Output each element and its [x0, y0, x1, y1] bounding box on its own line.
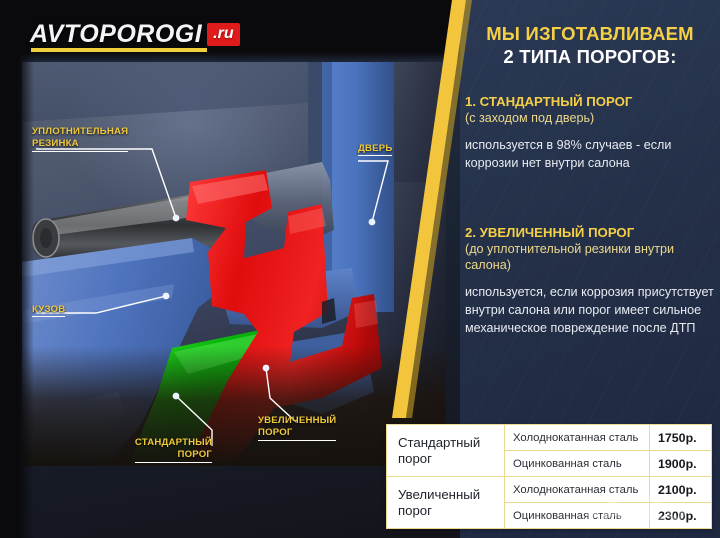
- headline-line2: 2 ТИПА ПОРОГОВ:: [470, 45, 710, 68]
- row-type-label: Стандартный порог: [387, 425, 505, 476]
- callout-extended-sill: УВЕЛИЧЕННЫЙ ПОРОГ: [258, 415, 336, 441]
- table-subrow: Оцинкованная сталь 1900р.: [505, 450, 711, 476]
- callout-extended-line1: УВЕЛИЧЕННЫЙ: [258, 415, 336, 426]
- callout-standard-line1: СТАНДАРТНЫЙ: [135, 437, 212, 448]
- headline-line1: МЫ ИЗГОТАВЛИВАЕМ: [470, 22, 710, 45]
- material-label: Оцинкованная сталь: [505, 458, 649, 470]
- avito-watermark: Avito: [586, 492, 686, 528]
- block1-title: 1. СТАНДАРТНЫЙ ПОРОГ: [465, 93, 715, 110]
- callout-door: ДВЕРЬ: [358, 143, 392, 156]
- callout-standard-sill: СТАНДАРТНЫЙ ПОРОГ: [92, 437, 212, 463]
- description-block-extended: 2. УВЕЛИЧЕННЫЙ ПОРОГ (до уплотнительной …: [465, 224, 715, 338]
- block2-title: 2. УВЕЛИЧЕННЫЙ ПОРОГ: [465, 224, 715, 241]
- logo-tld-badge: .ru: [207, 23, 239, 46]
- block2-body: используется, если коррозия присутствует…: [465, 284, 715, 338]
- watermark-dot-icon: [586, 505, 599, 518]
- table-subrow: Холоднокатанная сталь 1750р.: [505, 425, 711, 450]
- site-logo[interactable]: AVTOPOROGI .ru: [30, 20, 240, 49]
- callout-seal-line1: УПЛОТНИТЕЛЬНАЯ: [32, 126, 128, 137]
- logo-wordmark: AVTOPOROGI: [30, 20, 202, 49]
- table-row: Стандартный порог Холоднокатанная сталь …: [387, 425, 711, 476]
- callout-seal: УПЛОТНИТЕЛЬНАЯ РЕЗИНКА: [32, 126, 128, 152]
- block1-body: используется в 98% случаев - если корроз…: [465, 137, 715, 173]
- callout-body: КУЗОВ: [32, 304, 65, 317]
- callout-seal-line2: РЕЗИНКА: [32, 138, 79, 149]
- advertisement-image: УПЛОТНИТЕЛЬНАЯ РЕЗИНКА ДВЕРЬ КУЗОВ СТАНД…: [0, 0, 720, 538]
- block1-subtitle: (с заходом под дверь): [465, 110, 715, 126]
- price-value: 1900р.: [649, 451, 711, 476]
- logo-underline-bar: [31, 48, 207, 52]
- callout-body-label: КУЗОВ: [32, 304, 65, 317]
- watermark-text: Avito: [601, 492, 686, 528]
- description-block-standard: 1. СТАНДАРТНЫЙ ПОРОГ (с заходом под двер…: [465, 93, 715, 173]
- callout-extended-line2: ПОРОГ: [258, 427, 293, 438]
- row-type-label: Увеличенный порог: [387, 477, 505, 528]
- headline: МЫ ИЗГОТАВЛИВАЕМ 2 ТИПА ПОРОГОВ:: [470, 22, 710, 68]
- callout-door-label: ДВЕРЬ: [358, 143, 392, 156]
- block2-subtitle: (до уплотнительной резинки внутри салона…: [465, 241, 715, 273]
- price-value: 1750р.: [649, 425, 711, 450]
- callout-standard-line2: ПОРОГ: [177, 449, 212, 460]
- material-label: Холоднокатанная сталь: [505, 432, 649, 444]
